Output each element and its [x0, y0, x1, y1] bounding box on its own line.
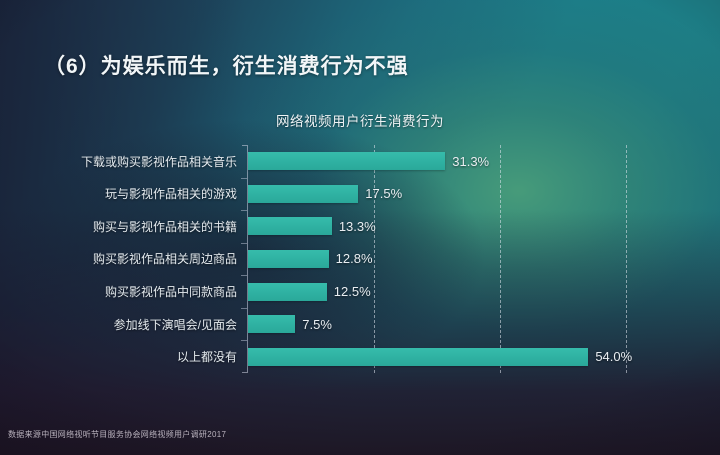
slide-canvas: （6）为娱乐而生，衍生消费行为不强 网络视频用户衍生消费行为 下载或购买影视作品… [0, 0, 720, 455]
bar-value-label: 17.5% [365, 186, 402, 201]
category-label: 参加线下演唱会/见面会 [38, 316, 237, 333]
slide-headline: （6）为娱乐而生，衍生消费行为不强 [44, 50, 409, 80]
bar-value-label: 31.3% [452, 154, 489, 169]
bar-value-label: 13.3% [339, 219, 376, 234]
bar-with-value: 12.5% [248, 283, 371, 301]
category-label: 下载或购买影视作品相关音乐 [38, 153, 237, 170]
bar-chart: 下载或购买影视作品相关音乐31.3%玩与影视作品相关的游戏17.5%购买与影视作… [38, 145, 686, 373]
bar-with-value: 13.3% [248, 217, 376, 235]
category-label: 购买与影视作品相关的书籍 [38, 218, 237, 235]
category-label: 玩与影视作品相关的游戏 [38, 185, 237, 202]
chart-title: 网络视频用户衍生消费行为 [0, 110, 720, 130]
bar [248, 217, 332, 235]
category-label: 以上都没有 [38, 348, 237, 365]
bar-with-value: 31.3% [248, 152, 489, 170]
bar [248, 185, 358, 203]
bar [248, 152, 445, 170]
bar-row: 购买影视作品中同款商品12.5% [38, 275, 686, 308]
bar-row: 玩与影视作品相关的游戏17.5% [38, 178, 686, 211]
bar-row: 以上都没有54.0% [38, 340, 686, 373]
bar [248, 283, 327, 301]
bar-value-label: 7.5% [302, 317, 332, 332]
bar-row: 参加线下演唱会/见面会7.5% [38, 308, 686, 341]
bar-with-value: 17.5% [248, 185, 402, 203]
bar-rows: 下载或购买影视作品相关音乐31.3%玩与影视作品相关的游戏17.5%购买与影视作… [38, 145, 686, 373]
bar-with-value: 7.5% [248, 315, 332, 333]
source-note: 数据来源中国网络视听节目服务协会网络视频用户调研2017 [8, 429, 226, 440]
bar-with-value: 54.0% [248, 348, 632, 366]
bar-value-label: 54.0% [595, 349, 632, 364]
bar-with-value: 12.8% [248, 250, 373, 268]
bar [248, 250, 329, 268]
bar-value-label: 12.5% [334, 284, 371, 299]
bar-row: 下载或购买影视作品相关音乐31.3% [38, 145, 686, 178]
category-label: 购买影视作品相关周边商品 [38, 250, 237, 267]
bar [248, 348, 588, 366]
bar-value-label: 12.8% [336, 251, 373, 266]
bar-row: 购买与影视作品相关的书籍13.3% [38, 210, 686, 243]
bar [248, 315, 295, 333]
bar-row: 购买影视作品相关周边商品12.8% [38, 243, 686, 276]
category-label: 购买影视作品中同款商品 [38, 283, 237, 300]
